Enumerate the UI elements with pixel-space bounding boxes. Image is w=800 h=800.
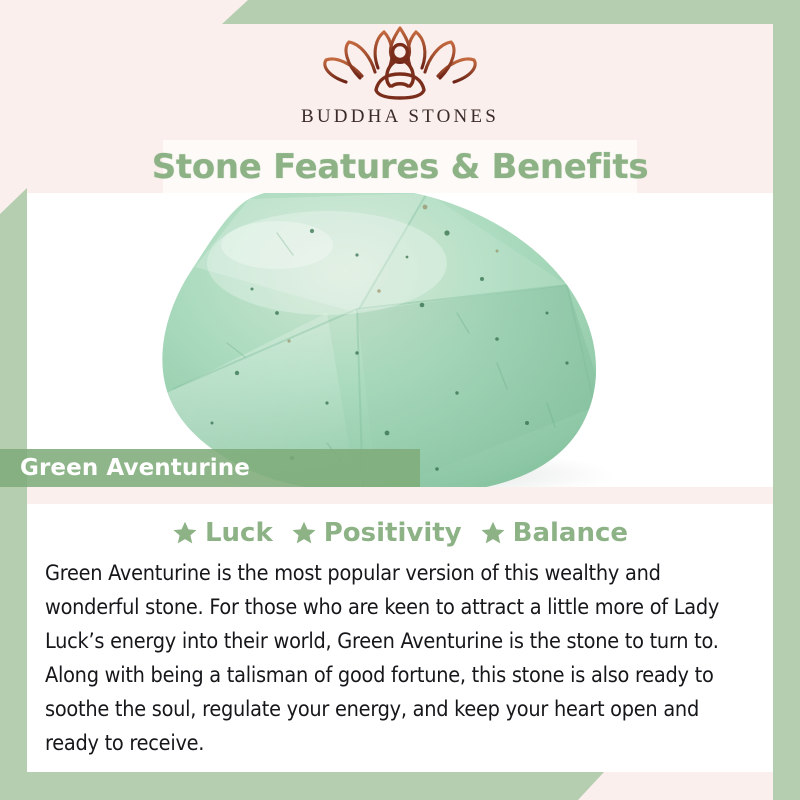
stone-name-label: Green Aventurine — [0, 449, 420, 487]
star-icon — [172, 520, 198, 546]
infographic-page: BUDDHA STONES Stone Features & Benefits — [0, 0, 800, 800]
benefits-row: Luck Positivity Balance — [39, 518, 761, 548]
lotus-meditation-figure-icon — [316, 22, 484, 102]
content-panel: Luck Positivity Balance Green — [27, 504, 773, 772]
benefit-item: Balance — [480, 518, 628, 548]
star-icon — [480, 520, 506, 546]
stone-photo — [27, 193, 773, 487]
brand-name: BUDDHA STONES — [301, 106, 499, 128]
divider-strip — [27, 487, 773, 504]
benefit-item: Luck — [172, 518, 273, 548]
benefit-label: Positivity — [324, 518, 462, 548]
benefit-label: Balance — [513, 518, 628, 548]
benefit-item: Positivity — [291, 518, 462, 548]
frame-band-bottom — [0, 772, 604, 800]
benefit-label: Luck — [205, 518, 273, 548]
frame-band-left — [0, 188, 27, 800]
stone-description: Green Aventurine is the most popular ver… — [39, 557, 761, 761]
brand-header: BUDDHA STONES — [0, 0, 800, 140]
page-title: Stone Features & Benefits — [0, 140, 800, 193]
stone-name-text: Green Aventurine — [20, 455, 250, 481]
star-icon — [291, 520, 317, 546]
